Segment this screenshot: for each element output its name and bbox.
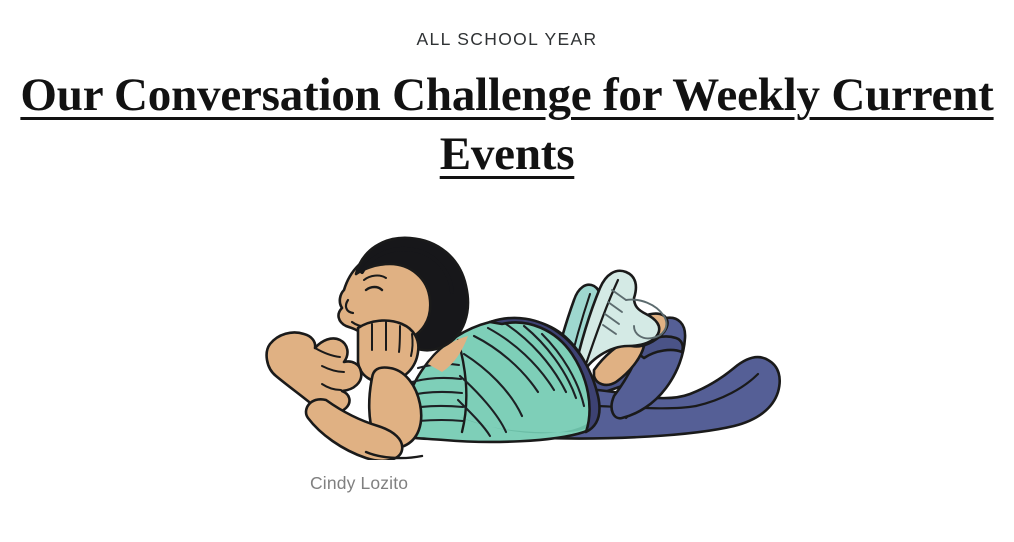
- headline-container: Our Conversation Challenge for Weekly Cu…: [0, 66, 1014, 184]
- page-title: Our Conversation Challenge for Weekly Cu…: [20, 69, 993, 180]
- illustration-credit: Cindy Lozito: [310, 473, 408, 495]
- person-lying-down-illustration: [222, 228, 814, 460]
- article-header-page: ALL SCHOOL YEAR Our Conversation Challen…: [0, 0, 1014, 542]
- illustration-figure: [222, 228, 814, 460]
- article-kicker: ALL SCHOOL YEAR: [0, 29, 1014, 50]
